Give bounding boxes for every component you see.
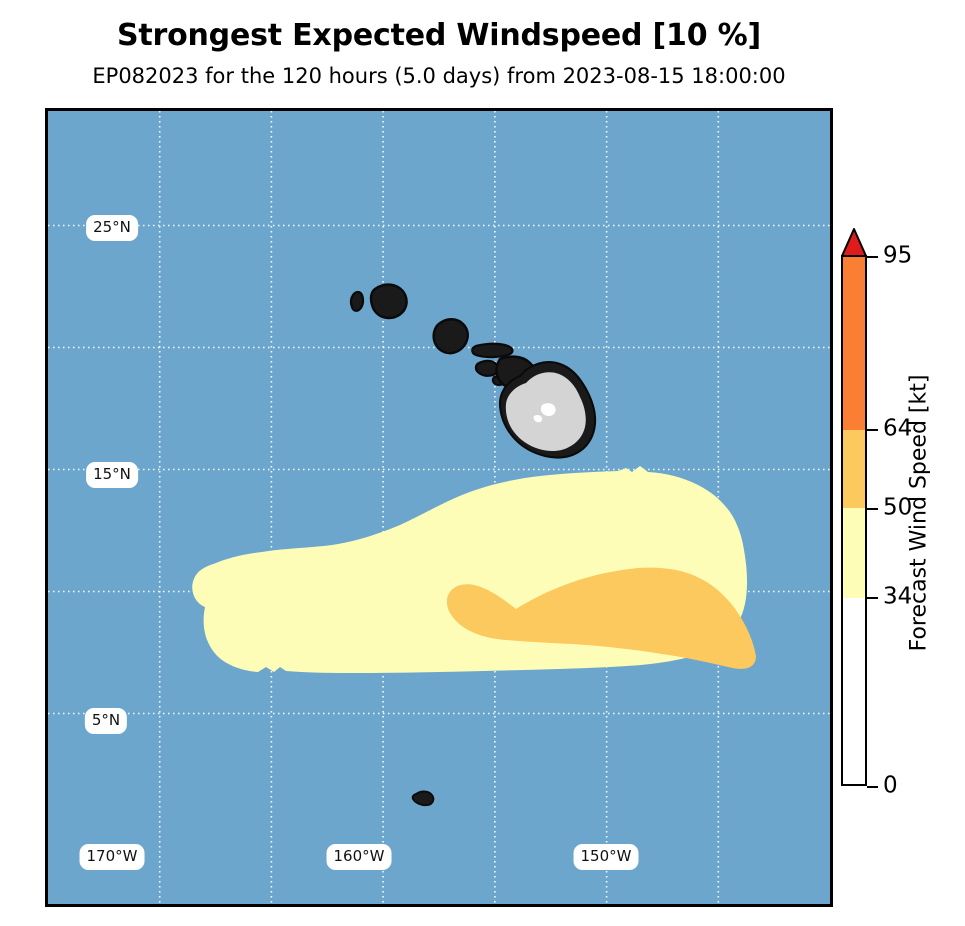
island-southern-islet <box>413 791 434 805</box>
map-canvas <box>48 111 830 904</box>
colorbar-segment-34-50 <box>843 508 865 597</box>
colorbar-tick-34 <box>867 597 878 599</box>
lat-label-25n: 25°N <box>86 215 138 241</box>
colorbar-ticklabel-0: 0 <box>883 775 898 798</box>
colorbar-tick-95 <box>867 256 878 258</box>
island-kauai <box>371 285 407 318</box>
lon-label-150w: 150°W <box>574 844 639 870</box>
island-lanai <box>476 361 498 376</box>
lon-label-170w: 170°W <box>80 844 145 870</box>
colorbar-extend-arrow <box>841 228 867 257</box>
island-niihau <box>351 292 363 311</box>
colorbar-gradient <box>841 255 867 786</box>
page-title: Strongest Expected Windspeed [10 %] <box>0 18 878 53</box>
island-oahu <box>434 319 468 353</box>
lon-label-160w: 160°W <box>327 844 392 870</box>
map-graphics <box>48 111 830 904</box>
colorbar-ticklabel-95: 95 <box>883 245 912 268</box>
chart-subtitle: EP082023 for the 120 hours (5.0 days) fr… <box>0 64 878 88</box>
lat-label-15n: 15°N <box>86 462 138 488</box>
colorbar-tick-0 <box>867 786 878 788</box>
island-molokai <box>472 344 512 357</box>
colorbar-tick-64 <box>867 429 878 431</box>
colorbar-segment-50-64 <box>843 430 865 508</box>
colorbar-tick-50 <box>867 508 878 510</box>
colorbar[interactable]: 95 64 50 34 0 Forecast Wind Speed [kt] <box>841 228 965 798</box>
colorbar-axis-label: Forecast Wind Speed [kt] <box>907 375 932 652</box>
colorbar-segment-64-95 <box>843 257 865 430</box>
lat-label-5n: 5°N <box>85 708 127 734</box>
map-panel[interactable]: 25°N 15°N 5°N 170°W 160°W 150°W <box>45 108 833 907</box>
colorbar-segment-0-34 <box>843 598 865 786</box>
